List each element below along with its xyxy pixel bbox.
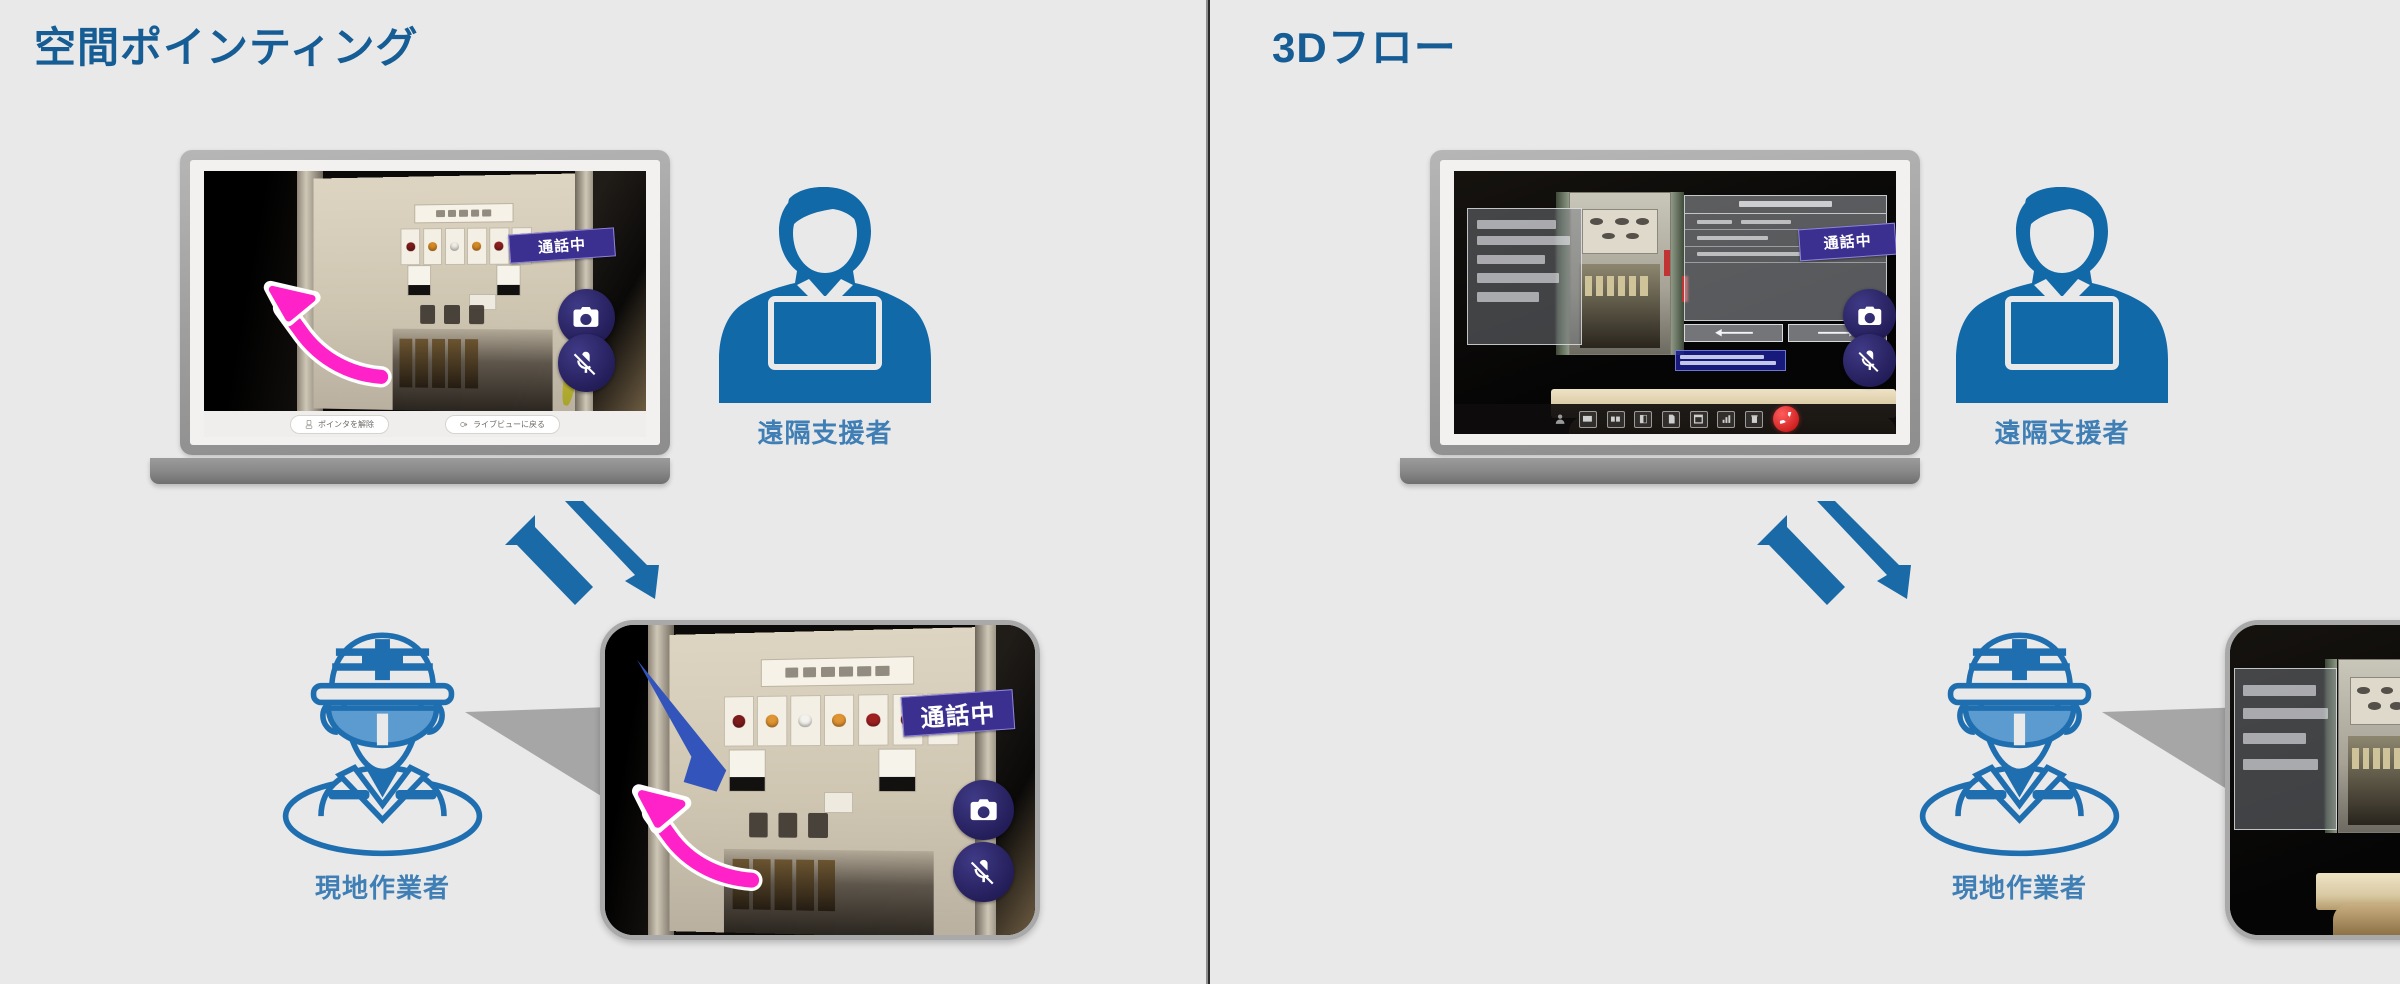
mic-off-icon — [1856, 347, 1884, 375]
video-screen-remote: 通話中 — [1454, 171, 1896, 434]
person-remote-supporter-left: 遠隔支援者 — [715, 175, 935, 450]
field-photo-card-left: 通話中 — [600, 620, 1040, 940]
info-icon — [1638, 414, 1649, 424]
window-icon — [1693, 414, 1704, 424]
cabinet-face — [313, 173, 587, 411]
panel-spatial-pointing: 空間ポインティング — [0, 0, 1205, 984]
camera-icon — [1856, 302, 1884, 330]
laptop-screen-bezel: 通話中 — [190, 160, 660, 445]
arrow-left-icon — [1692, 329, 1776, 337]
info-button[interactable] — [1634, 411, 1652, 428]
connector-double-arrow-left — [505, 495, 680, 635]
ar-flow-scene-field — [2230, 625, 2400, 935]
breaker-block — [824, 792, 853, 813]
mic-off-icon — [571, 348, 601, 378]
back-to-live-label: ライブビューに戻る — [473, 419, 545, 430]
ar-flow-scene — [1454, 171, 1896, 434]
remote-supporter-icon — [1952, 175, 2172, 405]
document-icon — [1666, 414, 1677, 424]
end-call-button[interactable] — [1773, 406, 1799, 432]
camera-icon — [968, 794, 999, 825]
desk-front-edge — [2333, 904, 2400, 935]
person-label-remote-supporter: 遠隔支援者 — [757, 413, 892, 450]
pointer-stamp-icon — [305, 420, 313, 429]
red-marker-tab — [1664, 250, 1670, 276]
screen-action-bar: ポインタを解除 ライブビューに戻る — [204, 411, 646, 437]
camera-icon — [571, 302, 601, 332]
pointer-release-button[interactable]: ポインタを解除 — [290, 415, 389, 434]
person-icon-button[interactable] — [1551, 411, 1569, 428]
switch-row — [749, 813, 856, 838]
panel-divider — [1206, 0, 1210, 984]
meter-row — [724, 749, 960, 792]
grid-view-button[interactable] — [1607, 411, 1625, 428]
mic-mute-button[interactable] — [1843, 334, 1896, 387]
laptop-lid: 通話中 — [180, 150, 670, 455]
cabinet-door-right — [1671, 192, 1684, 355]
laptop-base — [150, 458, 670, 484]
mic-mute-button[interactable] — [953, 842, 1013, 902]
person-label-remote-supporter: 遠隔支援者 — [1994, 413, 2129, 450]
ar-panel-step-list[interactable] — [2234, 668, 2337, 829]
panel-title-spatial-pointing: 空間ポインティング — [34, 14, 418, 75]
cabinet-control-face — [1582, 209, 1658, 254]
trash-icon — [1749, 414, 1760, 424]
cabinet-lower-bay — [393, 328, 553, 411]
cabinet-nameplate — [414, 203, 513, 223]
cabinet-interior — [1580, 264, 1660, 348]
laptop-base — [1400, 458, 1920, 484]
equipment-cabinet — [1569, 192, 1671, 355]
field-photo-card-right: 通話中 — [2225, 620, 2400, 940]
cabinet-control-face — [2350, 677, 2400, 725]
camera-capture-button[interactable] — [953, 780, 1013, 840]
mic-off-icon — [968, 856, 999, 887]
field-photo-inner: 通話中 — [2230, 625, 2400, 935]
video-screen-remote: 通話中 — [204, 171, 646, 411]
back-to-live-button[interactable]: ライブビューに戻る — [445, 415, 560, 434]
ar-prev-step-button[interactable] — [1684, 324, 1784, 342]
equipment-cabinet — [2338, 659, 2400, 833]
cabinet-nameplate — [761, 657, 914, 687]
meter-row — [401, 265, 556, 296]
person-icon — [1554, 413, 1566, 425]
video-call-toolbar — [1454, 404, 1896, 434]
status-badge-in-call: 通話中 — [900, 689, 1014, 737]
switch-row — [420, 305, 508, 324]
mic-mute-button[interactable] — [558, 334, 615, 391]
chart-button[interactable] — [1717, 411, 1735, 428]
pointer-release-label: ポインタを解除 — [318, 419, 374, 430]
person-label-field-worker: 現地作業者 — [1952, 868, 2087, 905]
laptop-remote-supporter-left: 通話中 — [150, 140, 670, 500]
panel-title-3d-flow: 3Dフロー — [1272, 14, 1457, 75]
person-remote-supporter-right: 遠隔支援者 — [1952, 175, 2172, 450]
person-label-field-worker: 現地作業者 — [315, 868, 450, 905]
window-button[interactable] — [1690, 411, 1708, 428]
ar-hint-tooltip — [1675, 350, 1786, 371]
cabinet-interior — [2348, 736, 2400, 825]
forward-icon — [460, 420, 468, 429]
ar-panel-step-list[interactable] — [1467, 208, 1582, 345]
laptop-screen-bezel: 通話中 — [1440, 160, 1910, 445]
slide-canvas: 空間ポインティング — [0, 0, 2400, 984]
trash-button[interactable] — [1745, 411, 1763, 428]
panel-3d-flow: 3Dフロー — [1212, 0, 2400, 984]
connector-double-arrow-right — [1757, 495, 1932, 635]
laptop-lid: 通話中 — [1430, 150, 1920, 455]
cabinet-lower-bay — [724, 849, 934, 935]
chart-icon — [1721, 414, 1732, 424]
document-button[interactable] — [1662, 411, 1680, 428]
screen-share-icon — [1582, 414, 1593, 424]
laptop-remote-supporter-right: 通話中 — [1400, 140, 1920, 500]
screen-share-button[interactable] — [1579, 411, 1597, 428]
field-photo-inner: 通話中 — [605, 625, 1035, 935]
end-call-icon — [1779, 412, 1794, 427]
grid-view-icon — [1610, 414, 1621, 424]
cabinet-face — [670, 627, 988, 935]
remote-supporter-icon — [715, 175, 935, 405]
